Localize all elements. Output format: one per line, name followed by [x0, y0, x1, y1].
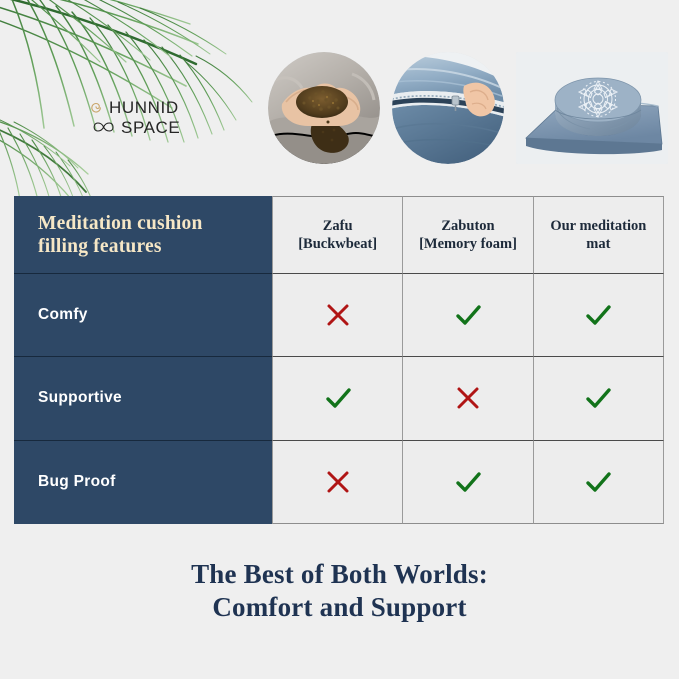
- row-label-cell-comfy: Comfy: [14, 274, 272, 357]
- row-label-cell-supportive: Supportive: [14, 357, 272, 440]
- logo-text-space: SPACE: [121, 118, 180, 138]
- table-title-line1: Meditation cushion: [38, 213, 203, 234]
- check-mark-icon: [451, 298, 485, 332]
- spiral-swirl-icon: [88, 100, 105, 117]
- photo-zafu-on-zabuton-set: [516, 52, 668, 164]
- table-title-line2: filling features: [38, 236, 162, 257]
- check-mark-icon: [321, 381, 355, 415]
- table-title-cell: Meditation cushion filling features: [14, 196, 272, 274]
- table-row: Bug Proof: [14, 441, 664, 524]
- row-label-comfy: Comfy: [38, 306, 88, 324]
- column-header-zabuton-line1: Zabuton: [441, 218, 494, 234]
- column-header-zafu: Zafu [Buckwbeat]: [272, 196, 402, 274]
- check-mark-icon: [581, 465, 615, 499]
- tagline-line2: Comfort and Support: [0, 591, 679, 624]
- column-header-zabuton-line2: [Memory foam]: [419, 236, 517, 252]
- table-title: Meditation cushion filling features: [38, 212, 203, 258]
- column-header-zabuton: Zabuton [Memory foam]: [402, 196, 532, 274]
- product-infographic: HUNNID SPACE: [0, 0, 679, 679]
- row-label-bug-proof: Bug Proof: [38, 473, 116, 491]
- table-row: Comfy: [14, 274, 664, 357]
- cell-comfy-our-mat: [533, 274, 664, 357]
- column-header-zafu-line1: Zafu: [323, 218, 353, 234]
- table-row: Supportive: [14, 357, 664, 440]
- cross-mark-icon: [451, 381, 485, 415]
- cross-mark-icon: [321, 298, 355, 332]
- photo-buckwheat-hulls-in-hands: [268, 52, 380, 164]
- cell-comfy-zafu: [272, 274, 402, 357]
- row-label-cell-bug-proof: Bug Proof: [14, 441, 272, 524]
- cross-mark-icon: [321, 465, 355, 499]
- check-mark-icon: [451, 465, 485, 499]
- cell-supportive-our-mat: [533, 357, 664, 440]
- brand-logo: HUNNID SPACE: [88, 96, 208, 146]
- table-header-row: Meditation cushion filling features Zafu…: [14, 196, 664, 274]
- cell-bug-proof-zabuton: [402, 441, 532, 524]
- logo-text-hunnid: HUNNID: [109, 98, 179, 118]
- row-label-supportive: Supportive: [38, 389, 122, 407]
- column-header-our-mat: Our meditation mat: [533, 196, 664, 274]
- column-header-our-mat-line1: Our meditation mat: [550, 218, 646, 252]
- tagline-line1: The Best of Both Worlds:: [0, 558, 679, 591]
- cell-bug-proof-zafu: [272, 441, 402, 524]
- photo-zipper-opening-cover: [392, 52, 504, 164]
- check-mark-icon: [581, 381, 615, 415]
- column-header-zafu-line2: [Buckwbeat]: [298, 236, 377, 252]
- product-photo-strip: [268, 52, 668, 164]
- tagline: The Best of Both Worlds: Comfort and Sup…: [0, 558, 679, 625]
- cell-supportive-zabuton: [402, 357, 532, 440]
- infinity-icon: [90, 118, 118, 136]
- cell-bug-proof-our-mat: [533, 441, 664, 524]
- comparison-table: Meditation cushion filling features Zafu…: [14, 196, 664, 524]
- cell-comfy-zabuton: [402, 274, 532, 357]
- check-mark-icon: [581, 298, 615, 332]
- cell-supportive-zafu: [272, 357, 402, 440]
